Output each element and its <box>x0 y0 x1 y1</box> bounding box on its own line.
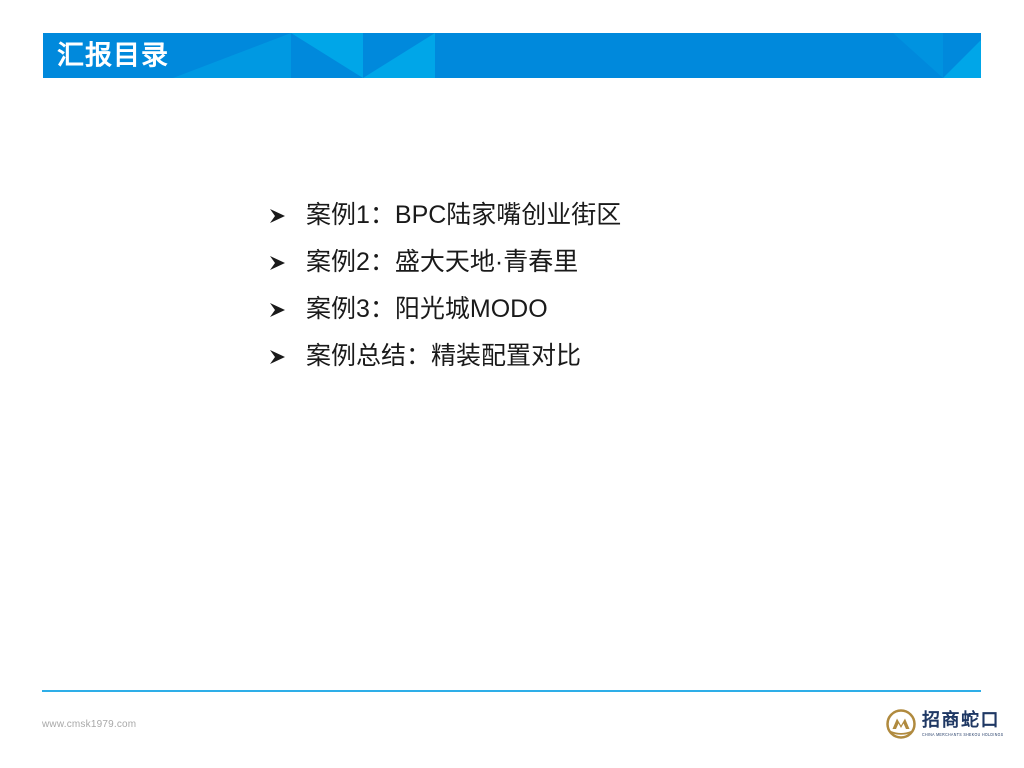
banner-triangle-accent <box>291 33 363 78</box>
banner-triangle-accent <box>893 33 943 78</box>
agenda-item[interactable]: 案例总结：精装配置对比 <box>268 333 868 380</box>
logo-name-en: CHINA MERCHANTS SHEKOU HOLDINGS <box>922 732 1004 737</box>
banner-triangle-accent <box>363 33 435 78</box>
agenda-item-label: 案例1：BPC陆家嘴创业街区 <box>306 201 621 230</box>
agenda-item[interactable]: 案例2：盛大天地·青春里 <box>268 239 868 286</box>
agenda-item-label: 案例3：阳光城MODO <box>306 295 548 324</box>
logo-name-cn: 招商蛇口 <box>922 711 1004 730</box>
arrowhead-bullet-icon <box>268 348 306 366</box>
footer-website-url: www.cmsk1979.com <box>42 719 136 730</box>
agenda-item-label: 案例总结：精装配置对比 <box>306 342 581 371</box>
arrowhead-bullet-icon <box>268 301 306 319</box>
slide-title-banner: 汇报目录 <box>43 33 981 78</box>
company-logo: 招商蛇口 CHINA MERCHANTS SHEKOU HOLDINGS <box>886 709 1004 739</box>
footer-divider <box>42 690 981 692</box>
banner-triangle-accent <box>173 33 291 78</box>
logo-text: 招商蛇口 CHINA MERCHANTS SHEKOU HOLDINGS <box>922 711 1004 736</box>
agenda-item[interactable]: 案例1：BPC陆家嘴创业街区 <box>268 192 868 239</box>
agenda-item-label: 案例2：盛大天地·青春里 <box>306 248 578 277</box>
agenda-list: 案例1：BPC陆家嘴创业街区 案例2：盛大天地·青春里 案例3：阳光城MODO <box>268 192 868 380</box>
banner-triangle-accent <box>943 33 981 78</box>
china-merchants-emblem-icon <box>886 709 916 739</box>
arrowhead-bullet-icon <box>268 207 306 225</box>
slide-canvas: 汇报目录 案例1：BPC陆家嘴创业街区 案例2：盛大天地·青春里 <box>0 0 1024 768</box>
slide-title: 汇报目录 <box>57 42 169 69</box>
agenda-item[interactable]: 案例3：阳光城MODO <box>268 286 868 333</box>
arrowhead-bullet-icon <box>268 254 306 272</box>
